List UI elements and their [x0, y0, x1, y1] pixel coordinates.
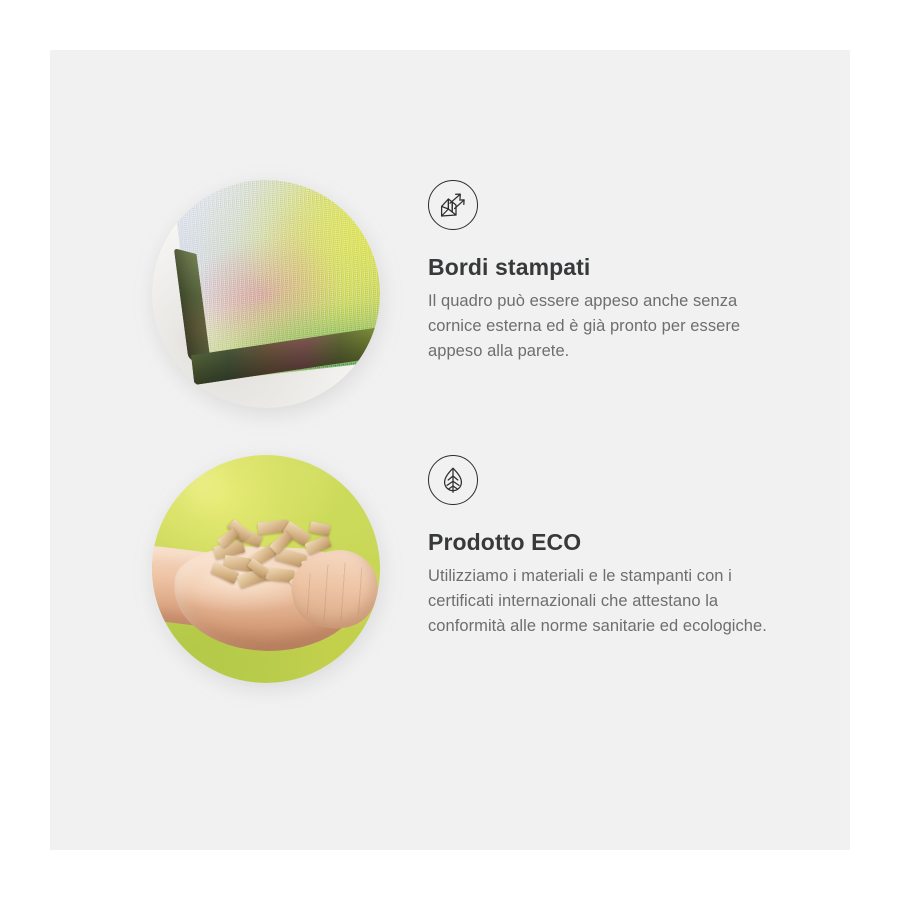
- leaf-icon: [428, 455, 478, 505]
- eco-wood-chips-photo: [152, 455, 380, 683]
- product-feature-page: Bordi stampati Il quadro può essere appe…: [0, 0, 900, 900]
- printed-edges-glyph: [438, 190, 468, 220]
- canvas-block: [171, 180, 380, 383]
- content-panel: Bordi stampati Il quadro può essere appe…: [50, 50, 850, 850]
- feature-title: Prodotto ECO: [428, 505, 808, 555]
- feature-title: Bordi stampati: [428, 230, 808, 280]
- feature-description: Il quadro può essere appeso anche senza …: [428, 280, 792, 364]
- feature-eco-product-copy: Prodotto ECO Utilizziamo i materiali e l…: [428, 455, 808, 639]
- eco-photo-frame: [152, 455, 380, 683]
- canvas-print-photo: [152, 180, 380, 408]
- leaf-glyph: [438, 465, 468, 495]
- feature-description: Utilizziamo i materiali e le stampanti c…: [428, 555, 792, 639]
- feature-eco-product: Prodotto ECO Utilizziamo i materiali e l…: [50, 455, 850, 745]
- printed-edges-icon: [428, 180, 478, 230]
- wood-chip: [309, 521, 331, 536]
- canvas-print-photo-frame: [152, 180, 380, 408]
- feature-printed-edges: Bordi stampati Il quadro può essere appe…: [50, 180, 850, 470]
- feature-printed-edges-copy: Bordi stampati Il quadro può essere appe…: [428, 180, 808, 364]
